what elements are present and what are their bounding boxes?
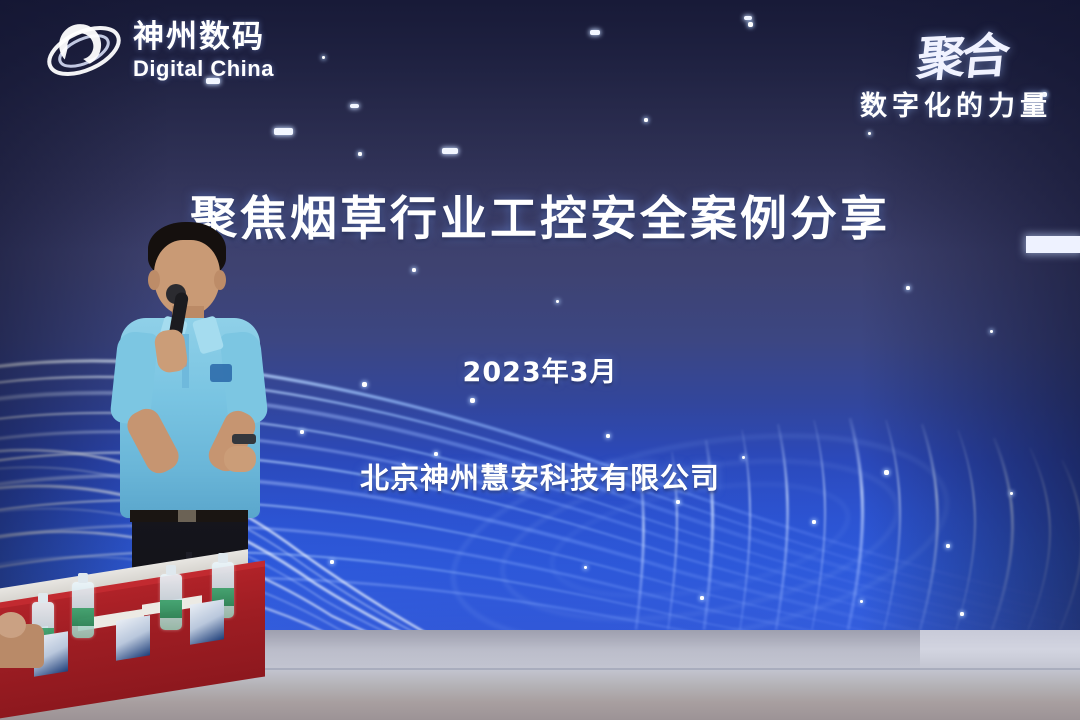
floor-shadow — [160, 630, 920, 670]
event-logo: 聚合 数字化的力量 — [860, 18, 1052, 123]
presentation-photo: 聚焦烟草行业工控安全案例分享 2023年3月 北京神州慧安科技有限公司 神州数码… — [0, 0, 1080, 720]
speaker-ear-right — [214, 270, 226, 290]
event-calligraphy: 聚合 — [914, 16, 1010, 91]
water-bottle — [72, 582, 94, 638]
speaker-belt-buckle — [178, 510, 196, 522]
speaker-ear-left — [148, 270, 160, 290]
event-tagline: 数字化的力量 — [860, 84, 1052, 123]
presentation-clicker-icon — [232, 434, 256, 444]
screen-edge-highlight-bar — [1026, 236, 1080, 253]
name-placard — [116, 615, 150, 660]
speaker-hand-right — [224, 446, 256, 472]
brand-name-en: Digital China — [133, 58, 274, 80]
shirt-logo-icon — [210, 364, 232, 382]
front-row-panel-table — [0, 596, 265, 720]
digital-china-swirl-icon — [45, 16, 123, 86]
name-placard — [190, 599, 224, 644]
brand-name-cn: 神州数码 — [133, 22, 274, 53]
brand-text-block: 神州数码 Digital China — [133, 22, 274, 80]
digital-china-brand-logo: 神州数码 Digital China — [45, 16, 274, 86]
water-bottle — [160, 574, 182, 630]
